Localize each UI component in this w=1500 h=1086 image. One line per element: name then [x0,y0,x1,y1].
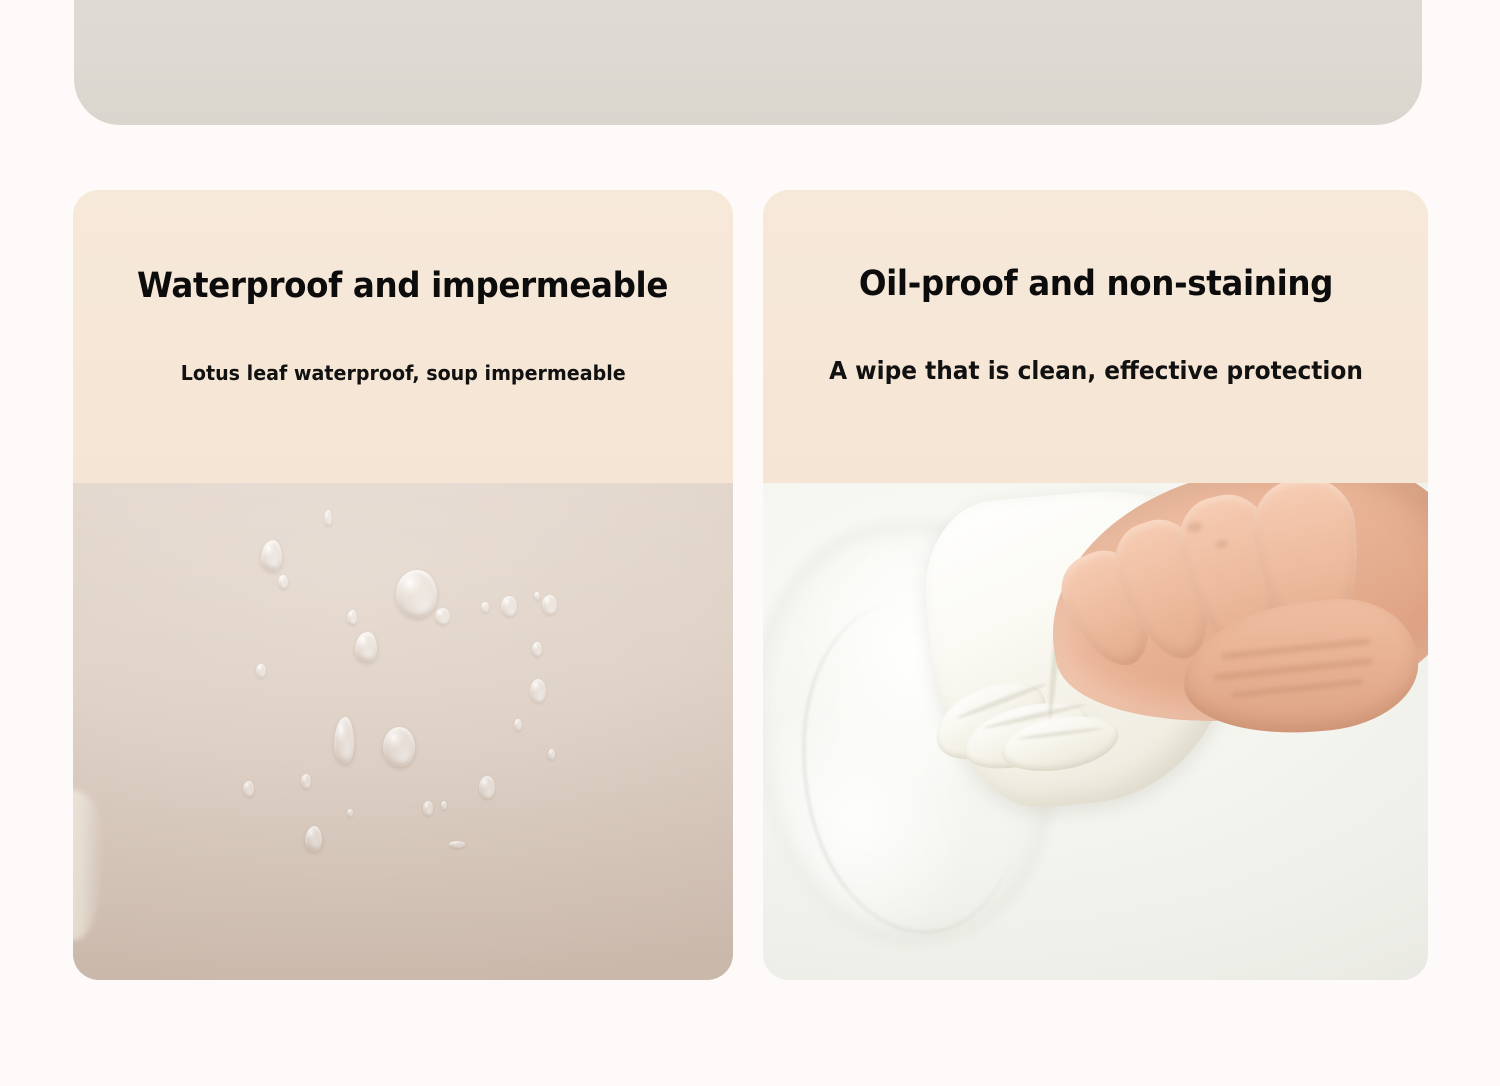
water-droplet [542,595,557,615]
water-droplet [334,717,354,764]
card-title-oilproof: Oil-proof and non-staining [858,264,1332,304]
water-droplet [324,510,333,526]
photo-hand-wiping [763,483,1428,980]
water-droplet [532,642,542,657]
water-droplet [534,592,540,600]
water-droplet [479,776,495,799]
water-droplet [481,602,489,613]
water-droplet [548,749,555,760]
thumb-crease [1213,657,1373,681]
card-text-block-waterproof: Waterproof and impermeable Lotus leaf wa… [73,190,733,483]
water-droplet [261,540,282,571]
water-droplet [301,774,311,789]
water-droplet [423,801,434,816]
water-droplet [305,826,322,851]
water-droplet [256,664,265,678]
water-droplet [449,841,465,848]
water-droplet [347,610,358,625]
thumb-crease [1221,638,1371,661]
photo-water-droplets [73,483,733,980]
top-banner [74,0,1422,125]
water-droplet [514,719,522,731]
thumb-crease [1231,679,1363,699]
card-subtitle-oilproof: A wipe that is clean, effective protecti… [829,356,1363,385]
water-droplet [383,727,415,768]
card-title-waterproof: Waterproof and impermeable [137,266,668,306]
feature-card-waterproof: Waterproof and impermeable Lotus leaf wa… [73,190,733,980]
feature-card-oilproof: Oil-proof and non-staining A wipe that i… [763,190,1428,980]
water-droplet [435,608,450,625]
water-droplet [501,596,517,617]
water-droplet [347,809,353,818]
edge-object-decor [73,790,103,940]
card-text-block-oilproof: Oil-proof and non-staining A wipe that i… [763,190,1428,483]
card-subtitle-waterproof: Lotus leaf waterproof, soup impermeable [181,361,626,385]
water-droplet [396,570,436,618]
water-droplet [530,679,546,703]
water-droplet [278,575,289,589]
water-droplet [243,781,254,797]
page-root: Waterproof and impermeable Lotus leaf wa… [0,0,1500,1086]
water-droplet [355,632,376,662]
water-droplet [441,801,447,810]
